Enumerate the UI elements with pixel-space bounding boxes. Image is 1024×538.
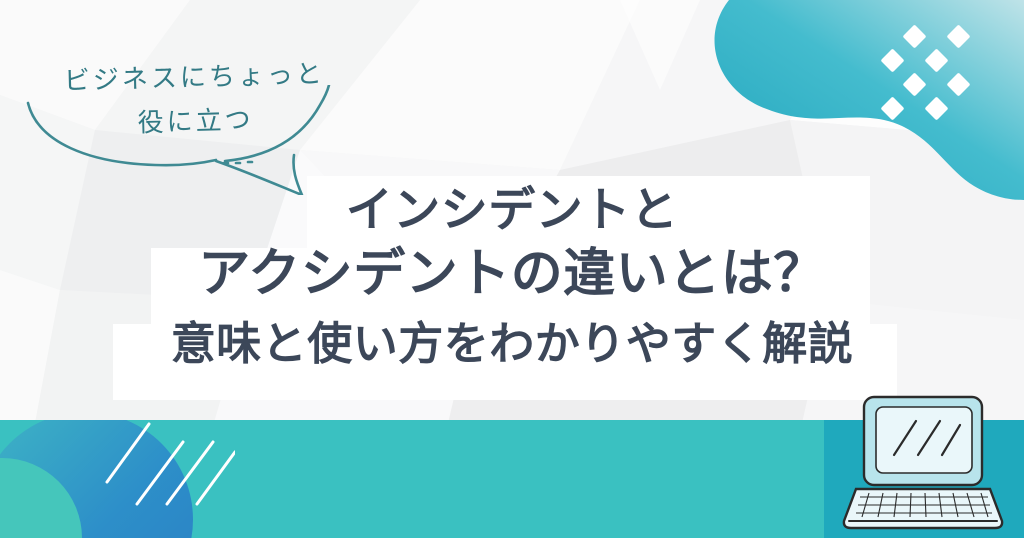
diamond-icon [946, 24, 970, 48]
diamond-icon [924, 48, 948, 72]
catch-copy: ビジネスにちょっと 役に立つ [39, 52, 351, 149]
diamond-icon [946, 72, 970, 96]
diamond-icon [924, 96, 948, 120]
catch-copy-line-1: ビジネスにちょっと [64, 59, 326, 96]
laptop-icon [838, 393, 1008, 538]
banner-canvas: インシデントと アクシデントの違いとは？ 意味と使い方をわかりやすく解説 ビジネ… [0, 0, 1024, 538]
title-box-line2 [151, 248, 870, 324]
diamond-icon [880, 96, 904, 120]
title-box-line3 [113, 324, 897, 400]
diamond-dot-pattern [872, 28, 982, 123]
diamond-icon [902, 24, 926, 48]
title-box-line1 [307, 176, 870, 248]
catch-copy-line-2: 役に立つ [40, 96, 351, 149]
diagonal-stripes-decor [105, 420, 235, 538]
diamond-icon [902, 72, 926, 96]
diamond-icon [880, 48, 904, 72]
